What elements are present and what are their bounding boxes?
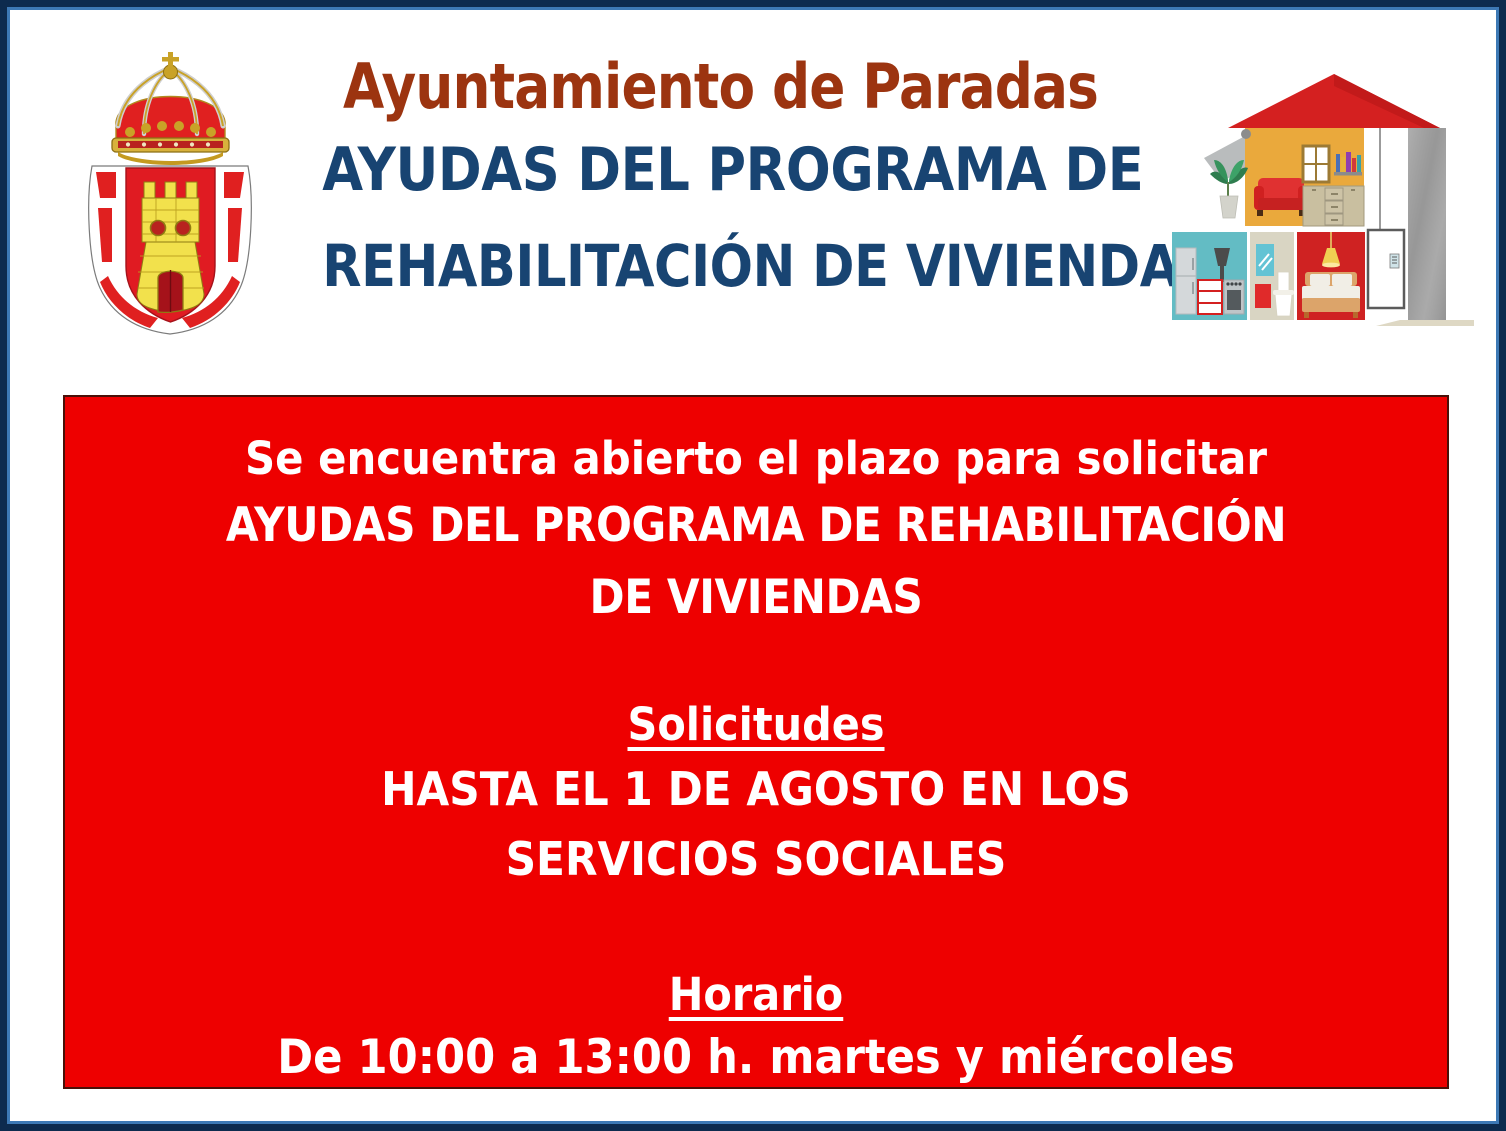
- notice-solicitudes-paragraph: Solicitudes HASTA EL 1 DE AGOSTO EN LOS …: [65, 634, 1447, 894]
- horario-heading: Horario: [120, 966, 1391, 1024]
- house-cutaway-illustration: [1162, 58, 1482, 343]
- solicitudes-line-1: HASTA EL 1 DE AGOSTO EN LOS: [120, 754, 1391, 824]
- organization-name: Ayuntamiento de Paradas: [331, 52, 1109, 122]
- notice-intro-line-1: Se encuentra abierto el plazo para solic…: [113, 428, 1398, 490]
- poster-page: Ayuntamiento de Paradas AYUDAS DEL PROGR…: [0, 0, 1506, 1131]
- notice-intro-line-2: AYUDAS DEL PROGRAMA DE REHABILITACIÓN: [134, 490, 1378, 562]
- poster-header: Ayuntamiento de Paradas AYUDAS DEL PROGR…: [10, 10, 1496, 378]
- coat-of-arms-icon: [78, 48, 263, 338]
- solicitudes-line-2: SERVICIOS SOCIALES: [120, 824, 1391, 894]
- poster-body: Ayuntamiento de Paradas AYUDAS DEL PROGR…: [10, 10, 1496, 1121]
- poster-title-line-2: REHABILITACIÓN DE VIVIENDAS: [322, 218, 1118, 314]
- horario-line-1: De 10:00 a 13:00 h. martes y miércoles: [120, 1024, 1391, 1089]
- solicitudes-heading: Solicitudes: [120, 696, 1391, 754]
- title-block: Ayuntamiento de Paradas AYUDAS DEL PROGR…: [268, 52, 1173, 314]
- notice-intro-paragraph: Se encuentra abierto el plazo para solic…: [65, 397, 1447, 634]
- notice-panel: Se encuentra abierto el plazo para solic…: [63, 395, 1449, 1089]
- poster-title-line-1: AYUDAS DEL PROGRAMA DE: [322, 122, 1118, 218]
- notice-intro-line-3: DE VIVIENDAS: [134, 562, 1378, 634]
- notice-horario-paragraph: Horario De 10:00 a 13:00 h. martes y mié…: [65, 894, 1447, 1089]
